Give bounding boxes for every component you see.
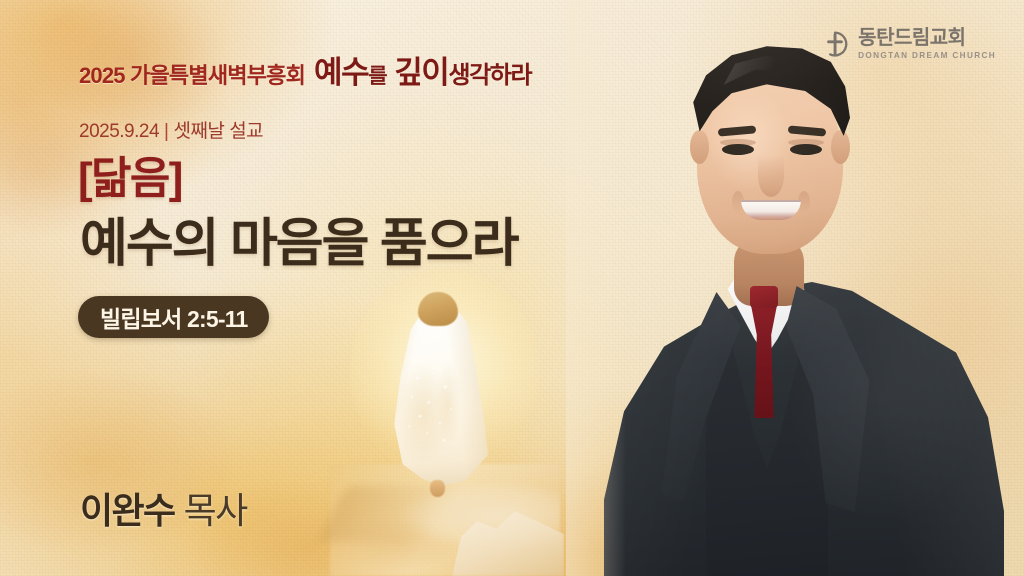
sermon-poster: 동탄드림교회 DONGTAN DREAM CHURCH 2025 가을특별새벽부…: [0, 0, 1024, 576]
campaign-series-label: 2025 가을특별새벽부흥회: [79, 58, 305, 90]
campaign-slogan: 예수를 깊이생각하라: [314, 47, 531, 92]
ear-left: [690, 130, 709, 164]
nose: [758, 155, 784, 197]
sermon-session: 셋째날 설교: [173, 121, 263, 142]
speaker-title: 목사: [184, 490, 247, 531]
slogan-part-1: 예수: [314, 55, 368, 91]
eye-right: [790, 144, 822, 155]
sermon-date: 2025.9.24: [79, 121, 159, 142]
meta-separator: |: [164, 121, 168, 142]
logo-english-name: DONGTAN DREAM CHURCH: [858, 52, 996, 60]
eye-left: [722, 144, 754, 155]
slogan-part-2: 를: [368, 63, 386, 88]
figure-shadow: [317, 486, 487, 542]
church-logo: 동탄드림교회 DONGTAN DREAM CHURCH: [821, 28, 996, 60]
sermon-kicker: [닮음]: [78, 157, 182, 201]
jesus-walking-illustration: [330, 268, 560, 576]
speaker-credit: 이완수목사: [80, 482, 247, 534]
logo-wordmark: 동탄드림교회 DONGTAN DREAM CHURCH: [858, 28, 996, 60]
chin: [734, 216, 806, 250]
pastor-portrait: [566, 0, 1024, 576]
campaign-eyebrow: 2025 가을특별새벽부흥회 예수를 깊이생각하라: [79, 47, 531, 92]
sermon-meta-line: 2025.9.24|셋째날 설교: [79, 116, 263, 143]
cross-in-circle-icon: [821, 30, 849, 58]
jacket-sheen: [604, 282, 1004, 576]
sermon-headline: 예수의 마음을 품으라: [80, 216, 517, 272]
ear-right: [831, 130, 850, 164]
figure-hair: [418, 292, 458, 326]
slogan-part-3: 깊이: [394, 55, 448, 91]
slogan-part-4: 생각하라: [448, 60, 531, 89]
figure-foot: [430, 480, 445, 497]
verse-reference-badge: 빌립보서 2:5-11: [78, 296, 269, 338]
light-sparkles: [402, 368, 472, 454]
logo-korean-name: 동탄드림교회: [858, 28, 996, 48]
speaker-name: 이완수: [80, 490, 175, 531]
